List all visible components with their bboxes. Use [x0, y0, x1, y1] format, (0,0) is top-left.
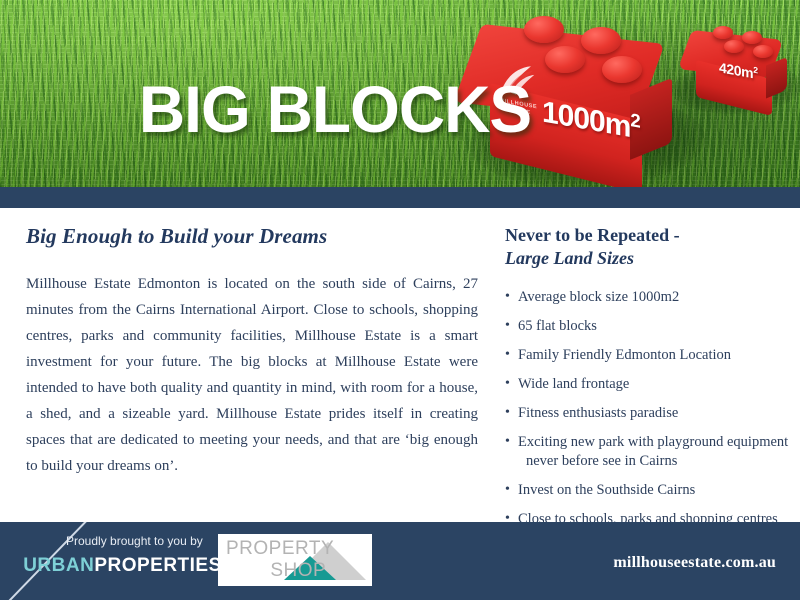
right-column-heading: Never to be Repeated - Large Land Sizes [505, 224, 790, 270]
hero-title-line-1: BIG BLOCKS [139, 72, 531, 146]
property-shop-logo: PROPERTY SHOP [218, 534, 372, 586]
list-item-label: Exciting new park with playground equipm… [518, 434, 788, 450]
urban-properties-logo-part2: PROPERTIES [94, 555, 221, 576]
list-item-continuation: never before see in Cairns [518, 452, 790, 471]
poster: 420m2 MILLHOUSE ESTATE 1000m2 BIG BLOCK [0, 0, 800, 600]
list-item-label: Invest on the Southside Cairns [518, 482, 695, 498]
brought-to-you-by-label: Proudly brought to you by [66, 534, 203, 548]
right-heading-line-1: Never to be Repeated - [505, 225, 680, 245]
list-item-label: Average block size 1000m2 [518, 289, 679, 305]
small-brick-area-exponent: 2 [753, 65, 757, 76]
left-column: Big Enough to Build your Dreams Millhous… [26, 224, 478, 479]
hero-title: BIG BLOCKS BIG LIFE [38, 18, 531, 188]
right-column: Never to be Repeated - Large Land Sizes … [505, 224, 790, 539]
big-brick-area-exponent: 2 [630, 109, 639, 132]
website-url[interactable]: millhouseestate.com.au [613, 554, 776, 572]
left-column-paragraph: Millhouse Estate Edmonton is located on … [26, 271, 478, 479]
navy-divider-bar [0, 187, 800, 208]
small-brick-stud [753, 45, 773, 58]
list-item-label: 65 flat blocks [518, 318, 597, 334]
big-brick-stud [545, 46, 585, 73]
urban-properties-logo-part1: URBAN [23, 555, 94, 576]
list-item-label: Fitness enthusiasts paradise [518, 405, 678, 421]
big-brick-stud [602, 56, 642, 83]
right-heading-line-2: Large Land Sizes [505, 247, 790, 270]
list-item: Wide land frontage [505, 375, 790, 394]
list-item-label: Family Friendly Edmonton Location [518, 347, 731, 363]
list-item: Average block size 1000m2 [505, 288, 790, 307]
list-item-label: Wide land frontage [518, 376, 629, 392]
property-shop-logo-text: PROPERTY SHOP [226, 538, 334, 582]
list-item: 65 flat blocks [505, 317, 790, 336]
left-column-heading: Big Enough to Build your Dreams [26, 224, 478, 249]
feature-bullet-list: Average block size 1000m265 flat blocksF… [505, 288, 790, 529]
property-shop-line-2: SHOP [226, 560, 334, 582]
hero-banner: 420m2 MILLHOUSE ESTATE 1000m2 BIG BLOCK [0, 0, 800, 188]
property-shop-line-1: PROPERTY [226, 538, 334, 559]
big-brick-stud [581, 27, 621, 54]
small-lego-brick: 420m2 [692, 30, 787, 98]
small-brick-brand-mark [700, 50, 718, 76]
small-brick-side-face [766, 57, 787, 98]
small-brick-stud [713, 26, 733, 39]
list-item: Invest on the Southside Cairns [505, 481, 790, 500]
urban-properties-logo: URBANPROPERTIES [20, 555, 225, 577]
list-item: Family Friendly Edmonton Location [505, 346, 790, 365]
small-brick-stud [742, 31, 762, 44]
list-item: Fitness enthusiasts paradise [505, 404, 790, 423]
list-item: Exciting new park with playground equipm… [505, 433, 790, 471]
content-area: Big Enough to Build your Dreams Millhous… [0, 208, 800, 522]
